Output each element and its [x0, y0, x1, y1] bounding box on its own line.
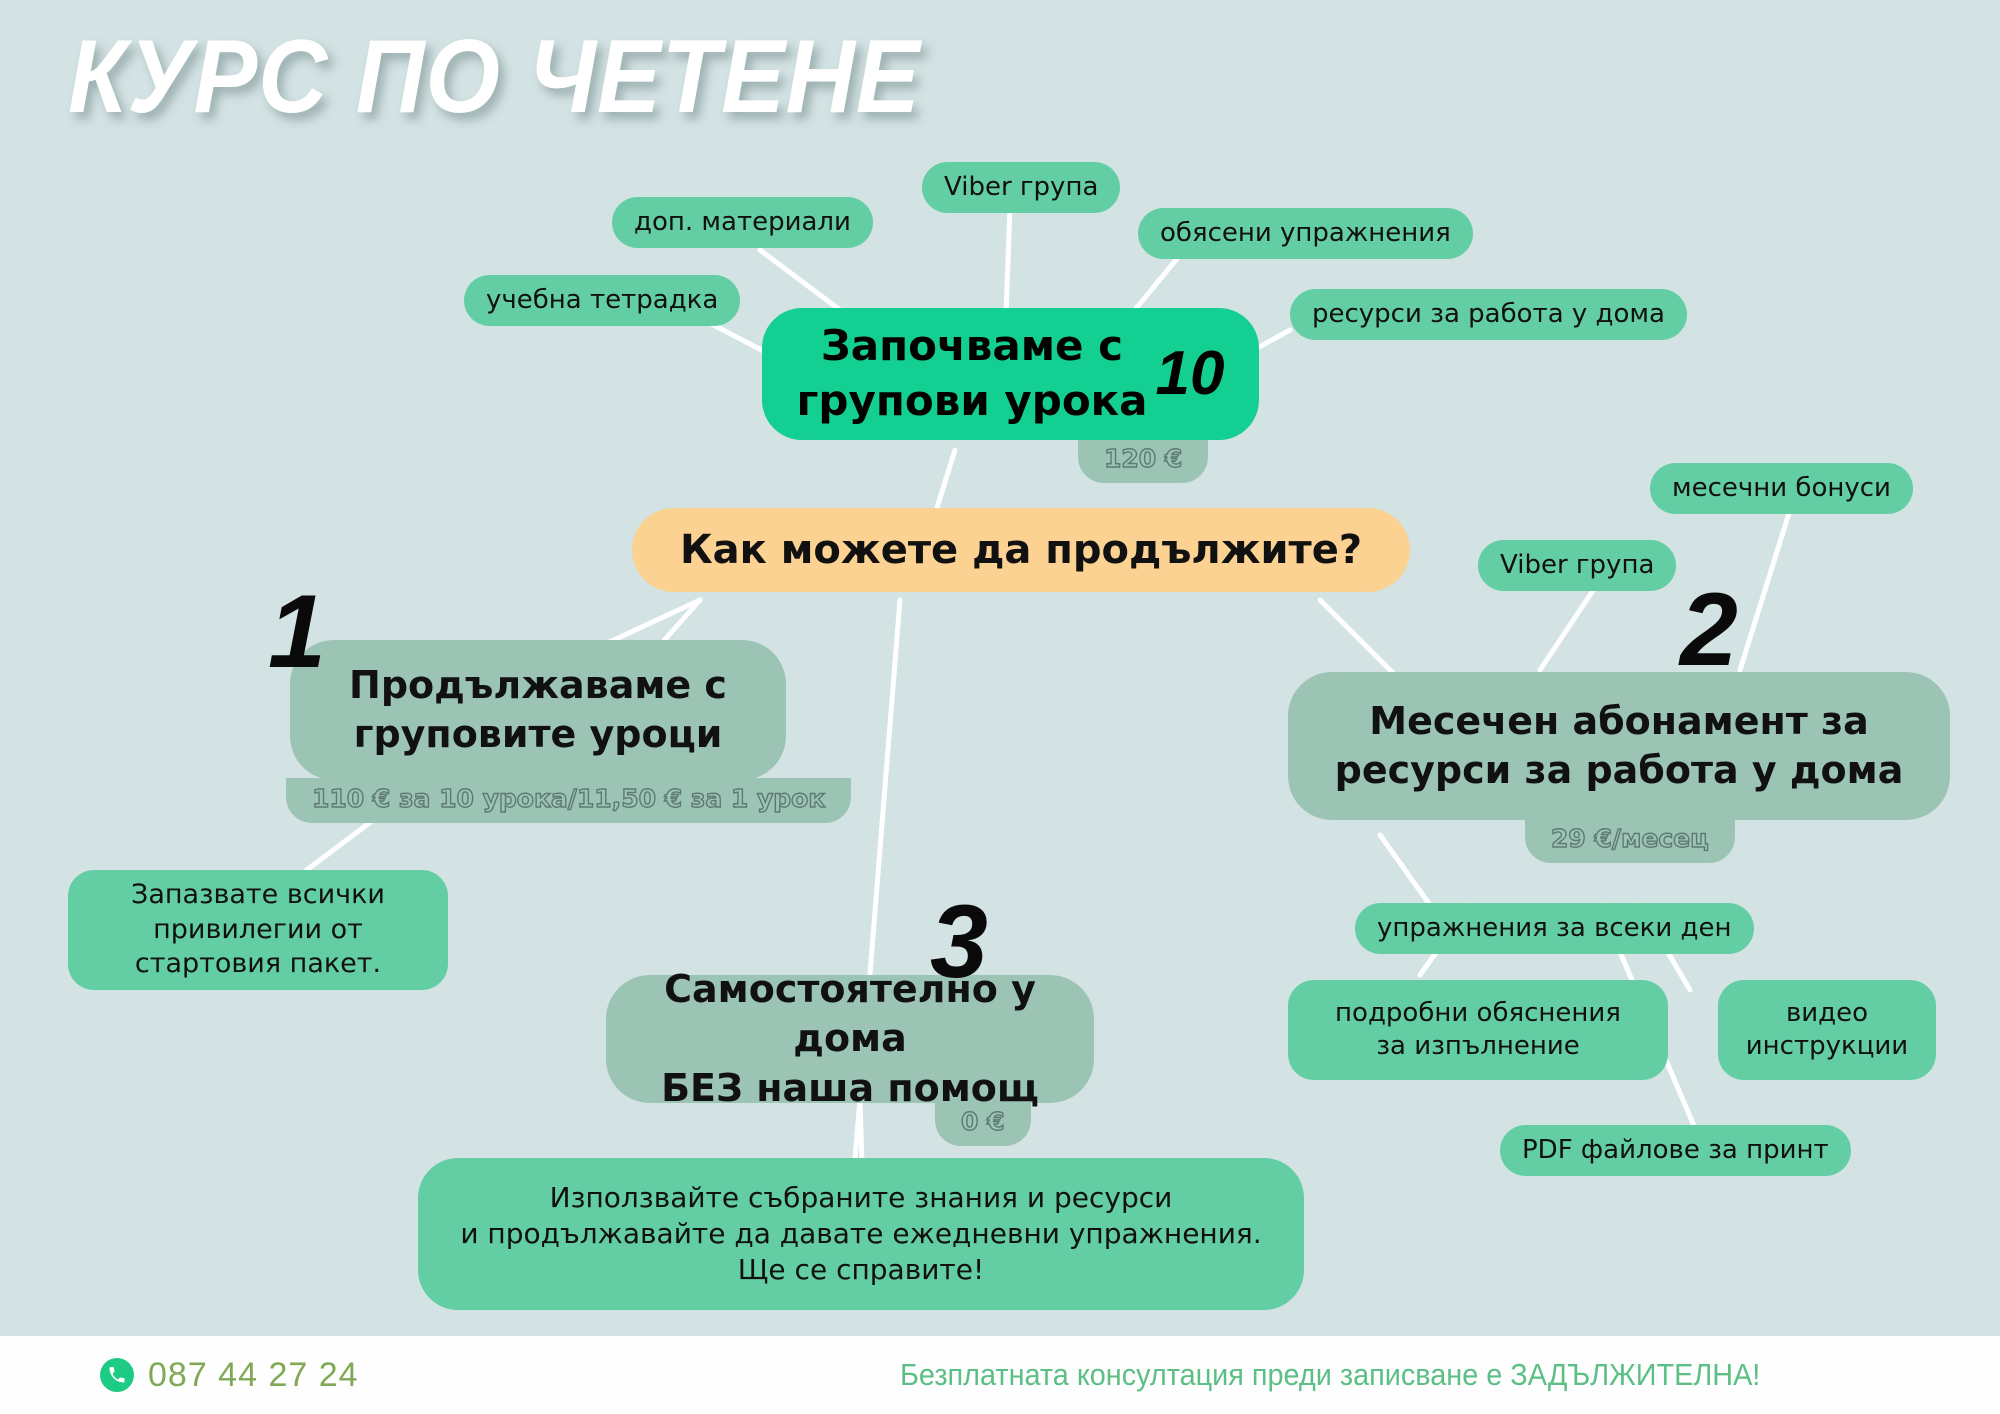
option-1-title: Продължаваме с груповите уроци	[349, 661, 727, 760]
chip-start-1[interactable]: доп. материали	[612, 197, 873, 248]
start-package-label: Започваме с групови урока	[796, 319, 1147, 428]
option-2-box[interactable]: Месечен абонамент за ресурси за работа у…	[1288, 672, 1950, 820]
option-3-title: Самостоятелно у дома БЕЗ наша помощ	[632, 965, 1068, 1113]
option-1-price: 110 € за 10 урока/11,50 € за 1 урок	[286, 778, 851, 823]
option-3-note-0[interactable]: Използвайте събраните знания и ресурси и…	[418, 1158, 1304, 1310]
chip-start-4[interactable]: ресурси за работа у дома	[1290, 289, 1687, 340]
option-2-note-4[interactable]: видео инструкции	[1718, 980, 1936, 1080]
step-number-1: 1	[268, 580, 326, 684]
option-2-price: 29 €/месец	[1525, 818, 1735, 863]
start-package-price: 120 €	[1078, 438, 1208, 483]
infographic-canvas: КУРС ПО ЧЕТЕНЕ учебна тетрадка доп. мате…	[0, 0, 2000, 1414]
page-title: КУРС ПО ЧЕТЕНЕ	[68, 18, 921, 137]
step-number-3: 3	[930, 890, 988, 994]
option-2-note-2[interactable]: упражнения за всеки ден	[1355, 903, 1754, 954]
phone-number: 087 44 27 24	[148, 1356, 359, 1395]
chip-start-3[interactable]: обясени упражнения	[1138, 208, 1473, 259]
option-1-box[interactable]: Продължаваме с груповите уроци	[290, 640, 786, 780]
footer-bar: 087 44 27 24 Безплатната консултация пре…	[0, 1336, 2000, 1414]
option-1-note-0[interactable]: Запазвате всички привилегии от стартовия…	[68, 870, 448, 990]
option-3-box[interactable]: Самостоятелно у дома БЕЗ наша помощ	[606, 975, 1094, 1103]
option-2-title: Месечен абонамент за ресурси за работа у…	[1335, 697, 1904, 796]
option-2-note-0[interactable]: Viber група	[1478, 540, 1676, 591]
chip-start-2[interactable]: Viber група	[922, 162, 1120, 213]
start-package-number: 10	[1156, 346, 1225, 402]
option-2-note-1[interactable]: месечни бонуси	[1650, 463, 1913, 514]
footer-note: Безплатната консултация преди записване …	[900, 1357, 1760, 1393]
phone-icon	[100, 1358, 134, 1392]
option-2-note-3[interactable]: подробни обяснения за изпълнение	[1288, 980, 1668, 1080]
chip-start-0[interactable]: учебна тетрадка	[464, 275, 740, 326]
step-number-2: 2	[1680, 578, 1738, 682]
start-package-hub[interactable]: Започваме с групови урока 10	[762, 308, 1259, 440]
question-banner: Как можете да продължите?	[632, 508, 1410, 592]
phone-block[interactable]: 087 44 27 24	[100, 1356, 359, 1395]
option-2-note-5[interactable]: PDF файлове за принт	[1500, 1125, 1851, 1176]
question-label: Как можете да продължите?	[680, 524, 1362, 576]
